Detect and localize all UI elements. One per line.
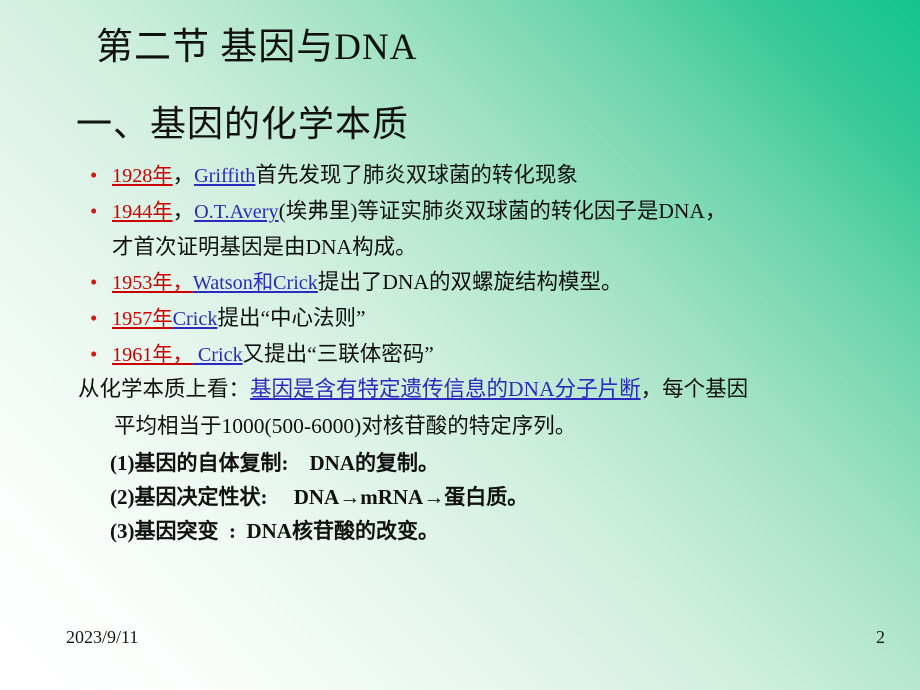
numbered-item-1: (1)基因的自体复制: DNA的复制。 [110, 446, 810, 480]
slide-title: 第二节 基因与DNA [96, 26, 417, 70]
scientist-name: O.T.Avery [194, 201, 278, 223]
body-text: (埃弗里)等证实肺炎双球菌的转化因子是DNA， [279, 199, 727, 223]
list-item: • 1957年Crick提出“中心法则” [86, 301, 886, 337]
scientist-name: Griffith [194, 165, 255, 187]
year-label: 1953年， [112, 272, 193, 294]
numbered-item-2: (2)基因决定性状: DNA→mRNA→蛋白质。 [110, 480, 810, 514]
scientist-name: Watson和Crick [193, 272, 318, 294]
list-item-text: 1953年，Watson和Crick提出了DNA的双螺旋结构模型。 [112, 265, 886, 301]
list-item-continuation: 才首次证明基因是由DNA构成。 [112, 230, 886, 265]
list-item-text: 1957年Crick提出“中心法则” [112, 301, 886, 337]
body-text: 首先发现了肺炎双球菌的转化现象 [255, 163, 578, 187]
list-item: • 1961年， Crick又提出“三联体密码” [86, 337, 886, 373]
year-label: 1928年 [112, 165, 173, 187]
section-heading: 一、基因的化学本质 [76, 103, 409, 146]
bullet-marker-icon: • [90, 301, 97, 336]
numbered-item-3: (3)基因突变 : DNA核苷酸的改变。 [110, 514, 810, 548]
bullet-marker-icon: • [90, 194, 97, 229]
year-label: 1944年 [112, 201, 173, 223]
bullet-marker-icon: • [90, 265, 97, 300]
body-text: 提出“中心法则” [217, 306, 365, 330]
list-item-text: 1944年，O.T.Avery(埃弗里)等证实肺炎双球菌的转化因子是DNA， [112, 194, 886, 230]
bullet-marker-icon: • [90, 158, 97, 193]
list-item-text: 1928年，Griffith首先发现了肺炎双球菌的转化现象 [112, 158, 886, 194]
definition-paragraph: 从化学本质上看：基因是含有特定遗传信息的DNA分子片断，每个基因 平均相当于10… [78, 371, 908, 445]
footer-date: 2023/9/11 [66, 627, 138, 648]
year-label: 1957年 [112, 308, 173, 330]
list-item-text: 1961年， Crick又提出“三联体密码” [112, 337, 886, 373]
year-label: 1961年， [112, 344, 193, 366]
footer-page-number: 2 [876, 627, 885, 648]
paragraph-lead: 从化学本质上看： [78, 377, 250, 401]
list-item: • 1953年，Watson和Crick提出了DNA的双螺旋结构模型。 [86, 265, 886, 301]
slide-canvas: 第二节 基因与DNA 一、基因的化学本质 • 1928年，Griffith首先发… [0, 0, 920, 690]
list-item: • 1928年，Griffith首先发现了肺炎双球菌的转化现象 [86, 158, 886, 194]
numbered-list: (1)基因的自体复制: DNA的复制。 (2)基因决定性状: DNA→mRNA→… [110, 446, 810, 548]
scientist-name: Crick [173, 308, 218, 330]
body-text: 又提出“三联体密码” [243, 342, 434, 366]
paragraph-tail: ，每个基因 [641, 377, 749, 401]
bullet-marker-icon: • [90, 337, 97, 372]
list-item: • 1944年，O.T.Avery(埃弗里)等证实肺炎双球菌的转化因子是DNA，… [86, 194, 886, 265]
separator: ， [173, 163, 195, 187]
paragraph-line-2: 平均相当于1000(500-6000)对核苷酸的特定序列。 [78, 408, 908, 445]
scientist-name: Crick [193, 344, 243, 366]
separator: ， [173, 199, 195, 223]
bullet-list: • 1928年，Griffith首先发现了肺炎双球菌的转化现象 • 1944年，… [86, 158, 886, 373]
body-text: 提出了DNA的双螺旋结构模型。 [318, 270, 623, 294]
paragraph-highlight: 基因是含有特定遗传信息的DNA分子片断 [250, 377, 641, 401]
